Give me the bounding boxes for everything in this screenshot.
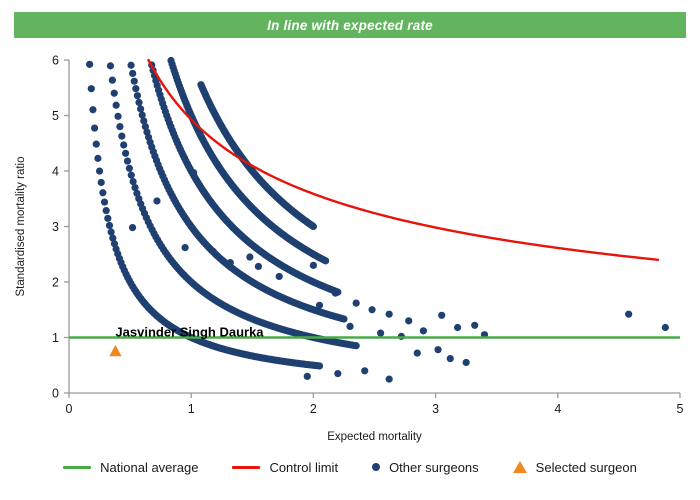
- data-point: [310, 262, 317, 269]
- data-point-contour: [113, 102, 120, 109]
- data-point-contour: [137, 105, 144, 112]
- data-point: [227, 259, 234, 266]
- data-point-contour: [126, 165, 133, 172]
- data-point-contour: [322, 257, 329, 264]
- legend-item-label: Selected surgeon: [536, 460, 637, 475]
- selected-surgeon-marker: [109, 345, 121, 356]
- x-tick-label: 4: [554, 402, 561, 416]
- data-point: [361, 367, 368, 374]
- data-point-contour: [94, 155, 101, 162]
- y-tick-label: 2: [52, 276, 59, 290]
- x-tick-label: 5: [677, 402, 684, 416]
- data-point-contour: [132, 85, 139, 92]
- legend-line-icon: [63, 466, 91, 469]
- data-point-contour: [109, 77, 116, 84]
- data-point: [368, 306, 375, 313]
- legend-item-label: National average: [100, 460, 198, 475]
- data-point: [463, 359, 470, 366]
- data-point: [414, 349, 421, 356]
- x-axis-title: Expected mortality: [327, 431, 422, 443]
- status-banner: In line with expected rate: [14, 12, 686, 38]
- data-point-contour: [128, 172, 135, 179]
- data-point-contour: [107, 62, 114, 69]
- data-point: [334, 370, 341, 377]
- data-point-contour: [93, 141, 100, 148]
- data-point-contour: [89, 106, 96, 113]
- data-point-contour: [96, 167, 103, 174]
- legend-item-label: Other surgeons: [389, 460, 479, 475]
- data-point: [353, 299, 360, 306]
- legend-dot-icon: [372, 463, 380, 471]
- data-point: [625, 311, 632, 318]
- data-point: [304, 373, 311, 380]
- data-point-contour: [114, 113, 121, 120]
- data-point: [386, 311, 393, 318]
- x-tick-label: 0: [66, 402, 73, 416]
- data-point: [276, 273, 283, 280]
- data-point: [447, 355, 454, 362]
- data-point-contour: [127, 62, 134, 69]
- data-point-contour: [108, 228, 115, 235]
- data-point-contour: [310, 223, 317, 230]
- data-point-contour: [91, 124, 98, 131]
- data-point: [181, 244, 188, 251]
- data-point-contour: [134, 92, 141, 99]
- data-point: [405, 317, 412, 324]
- funnel-plot-page: In line with expected rate 0123456012345…: [0, 0, 700, 500]
- legend-item-other-surgeons[interactable]: Other surgeons: [372, 460, 479, 475]
- legend-item-selected-surgeon[interactable]: Selected surgeon: [513, 460, 637, 475]
- data-point: [377, 329, 384, 336]
- data-point: [454, 324, 461, 331]
- data-point: [420, 327, 427, 334]
- legend-triangle-icon: [513, 461, 527, 473]
- data-point-contour: [106, 222, 113, 229]
- funnel-plot-svg: 0123456012345Expected mortalityStandardi…: [0, 40, 700, 445]
- y-tick-label: 1: [52, 331, 59, 345]
- data-point-contour: [86, 61, 93, 68]
- data-point-contour: [118, 133, 125, 140]
- data-point-contour: [116, 123, 123, 130]
- y-tick-label: 0: [52, 387, 59, 401]
- data-point-contour: [129, 70, 136, 77]
- data-point-contour: [135, 99, 142, 106]
- control-limit-curve: [148, 60, 658, 260]
- chart-legend: National averageControl limitOther surge…: [0, 452, 700, 482]
- legend-item-national-average[interactable]: National average: [63, 460, 198, 475]
- data-point-contour: [111, 90, 118, 97]
- data-point-contour: [122, 150, 129, 157]
- data-point: [190, 169, 197, 176]
- data-point: [438, 312, 445, 319]
- data-point-contour: [98, 179, 105, 186]
- y-tick-label: 4: [52, 165, 59, 179]
- data-point: [346, 323, 353, 330]
- legend-item-control-limit[interactable]: Control limit: [232, 460, 338, 475]
- data-point: [153, 197, 160, 204]
- y-tick-label: 6: [52, 54, 59, 68]
- x-tick-label: 2: [310, 402, 317, 416]
- data-point-contour: [88, 85, 95, 92]
- chart-area: 0123456012345Expected mortalityStandardi…: [0, 40, 700, 445]
- y-axis-title: Standardised mortality ratio: [15, 157, 27, 297]
- data-point: [129, 224, 136, 231]
- data-point-contour: [131, 78, 138, 85]
- status-banner-label: In line with expected rate: [267, 18, 433, 33]
- data-point: [316, 302, 323, 309]
- data-point: [246, 253, 253, 260]
- x-tick-label: 1: [188, 402, 195, 416]
- legend-item-label: Control limit: [269, 460, 338, 475]
- data-point: [386, 376, 393, 383]
- data-point-contour: [353, 342, 360, 349]
- data-point-contour: [316, 362, 323, 369]
- data-point: [332, 290, 339, 297]
- data-point: [210, 248, 217, 255]
- legend-line-icon: [232, 466, 260, 469]
- data-point: [662, 324, 669, 331]
- data-point-contour: [104, 215, 111, 222]
- data-point-contour: [101, 198, 108, 205]
- data-point-contour: [103, 207, 110, 214]
- data-point: [434, 346, 441, 353]
- selected-surgeon-annotation: Jasvinder Singh Daurka: [115, 324, 264, 339]
- data-point-contour: [120, 141, 127, 148]
- data-point-contour: [340, 315, 347, 322]
- x-tick-label: 3: [432, 402, 439, 416]
- y-tick-label: 5: [52, 109, 59, 123]
- y-tick-label: 3: [52, 220, 59, 234]
- data-point-contour: [124, 157, 131, 164]
- data-point: [471, 322, 478, 329]
- data-point-contour: [99, 189, 106, 196]
- data-point: [255, 263, 262, 270]
